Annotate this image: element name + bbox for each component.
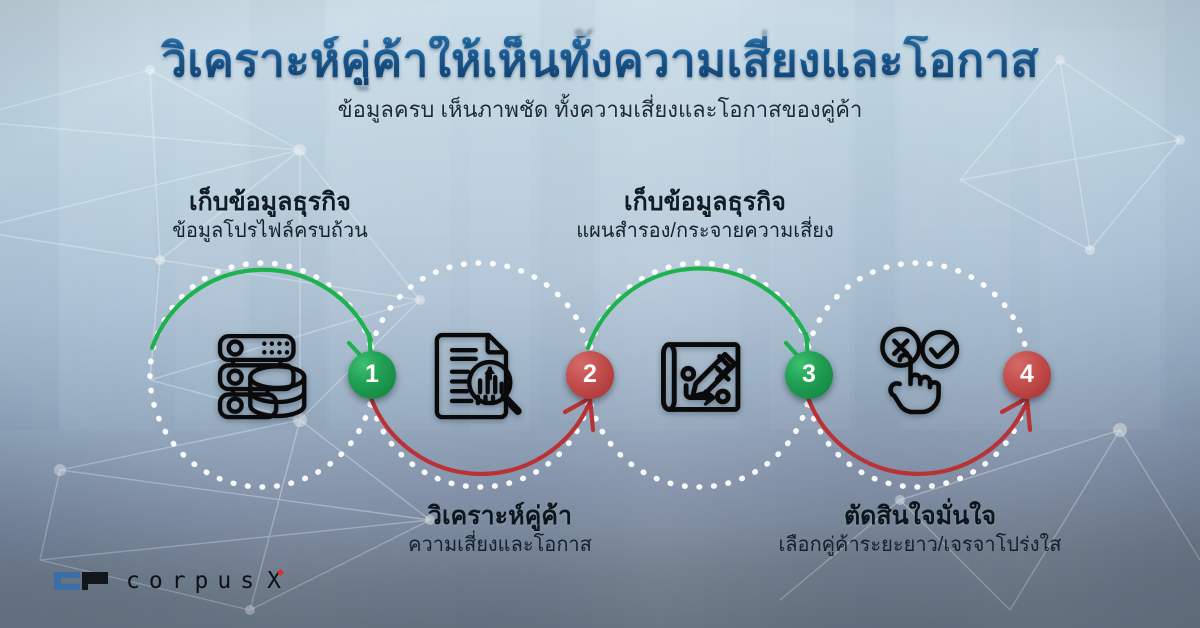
step-badge-4[interactable]: 4 <box>1003 351 1051 399</box>
strategy-board-pencil-icon <box>643 322 753 432</box>
logo-word-text: corpus <box>126 568 263 594</box>
document-chart-magnifier-icon <box>424 320 534 430</box>
step-caption-3: เก็บข้อมูลธุรกิจ แผนสำรอง/กระจายความเสี่… <box>540 188 870 243</box>
step-caption-4: ตัดสินใจมั่นใจ เลือกคู่ค้าระยะยาว/เจรจาโ… <box>755 502 1085 557</box>
step-badge-4-number: 4 <box>1020 362 1034 387</box>
step-badge-2-number: 2 <box>583 362 597 387</box>
cp-monogram-icon <box>52 568 110 594</box>
page-subtitle: ข้อมูลครบ เห็นภาพชัด ทั้งความเสี่ยงและโอ… <box>0 97 1200 123</box>
step-badge-3[interactable]: 3 <box>785 351 833 399</box>
step-caption-2-title: วิเคราะห์คู่ค้า <box>335 502 665 531</box>
server-database-icon <box>205 320 315 430</box>
step-badge-1[interactable]: 1 <box>348 351 396 399</box>
infographic-canvas: วิเคราะห์คู่ค้าให้เห็นทั้งความเสี่ยงและโ… <box>0 0 1200 628</box>
step-caption-3-title: เก็บข้อมูลธุรกิจ <box>540 188 870 217</box>
step-caption-1-title: เก็บข้อมูลธุรกิจ <box>105 188 435 217</box>
logo-x-suffix: X <box>267 568 290 594</box>
step-caption-2: วิเคราะห์คู่ค้า ความเสี่ยงและโอกาส <box>335 502 665 557</box>
page-title: วิเคราะห์คู่ค้าให้เห็นทั้งความเสี่ยงและโ… <box>0 36 1200 85</box>
brand-logo[interactable]: corpus X <box>52 568 290 594</box>
step-caption-4-subtitle: เลือกคู่ค้าระยะยาว/เจรจาโปร่งใส <box>755 533 1085 557</box>
hand-choice-check-cross-icon <box>862 316 972 426</box>
step-caption-2-subtitle: ความเสี่ยงและโอกาส <box>335 533 665 557</box>
step-badge-2[interactable]: 2 <box>566 351 614 399</box>
step-badge-3-number: 3 <box>802 362 816 387</box>
step-caption-1-subtitle: ข้อมูลโปรไฟล์ครบถ้วน <box>105 219 435 243</box>
step-caption-3-subtitle: แผนสำรอง/กระจายความเสี่ยง <box>540 219 870 243</box>
step-caption-4-title: ตัดสินใจมั่นใจ <box>755 502 1085 531</box>
logo-wordmark: corpus X <box>126 568 290 594</box>
header-block: วิเคราะห์คู่ค้าให้เห็นทั้งความเสี่ยงและโ… <box>0 36 1200 123</box>
step-caption-1: เก็บข้อมูลธุรกิจ ข้อมูลโปรไฟล์ครบถ้วน <box>105 188 435 243</box>
step-badge-1-number: 1 <box>365 362 379 387</box>
